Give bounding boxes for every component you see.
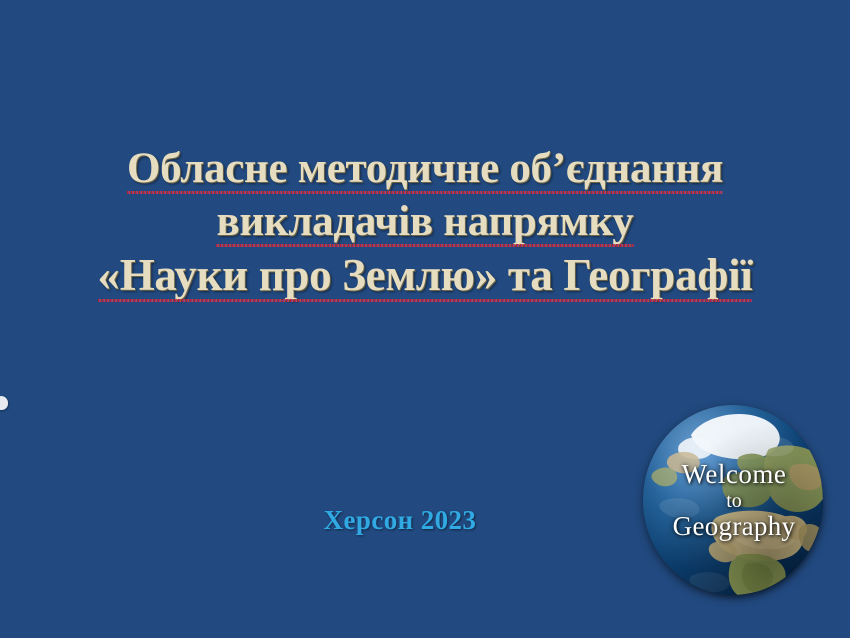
presentation-slide: Обласне методичне об’єднання викладачів …: [0, 0, 850, 638]
spellcheck-underline-1: Обласне методичне об’єднання: [127, 147, 723, 191]
globe-image[interactable]: Welcome to Geography: [641, 403, 827, 599]
title-line-1: Обласне методичне об’єднання: [0, 147, 850, 191]
spellcheck-underline-2: викладачів напрямку: [216, 200, 633, 244]
clipped-graphic-fragment-icon: [0, 396, 8, 410]
slide-title[interactable]: Обласне методичне об’єднання викладачів …: [0, 147, 850, 299]
globe-sphere: [643, 405, 823, 595]
title-line-3: «Науки про Землю» та Географії: [0, 253, 850, 299]
spellcheck-underline-3: «Науки про Землю» та Географії: [98, 253, 753, 299]
subtitle-text: Херсон 2023: [324, 505, 477, 535]
title-line-2: викладачів напрямку: [0, 200, 850, 244]
